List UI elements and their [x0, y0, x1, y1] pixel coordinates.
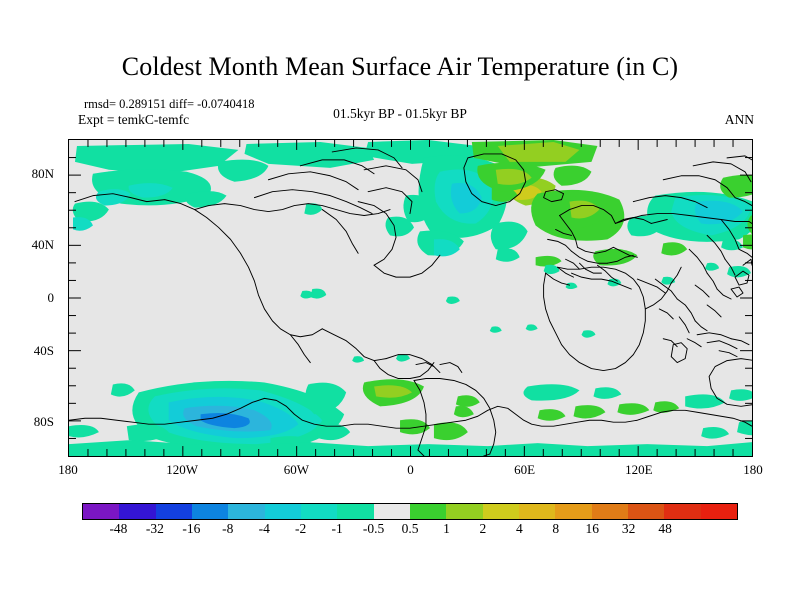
colorbar-tick-labels: -48-32-16-8-4-2-1-0.50.51248163248 — [82, 521, 738, 541]
colorbar-tick-1: 1 — [443, 521, 450, 537]
x-tick-60e: 60E — [514, 462, 535, 478]
y-tick-80s: 80S — [34, 414, 54, 430]
colorbar-swatch-10 — [446, 504, 482, 519]
x-tick-0: 0 — [407, 462, 414, 478]
page-title: Coldest Month Mean Surface Air Temperatu… — [0, 52, 800, 82]
y-axis-labels: 80N 40N 0 40S 80S — [0, 139, 62, 457]
colorbar-tick--8: -8 — [222, 521, 233, 537]
colorbar-tick--32: -32 — [146, 521, 164, 537]
colorbar-swatch-15 — [628, 504, 664, 519]
colorbar-swatch-17 — [701, 504, 737, 519]
x-tick-120w: 120W — [166, 462, 198, 478]
colorbar-swatch-2 — [156, 504, 192, 519]
colorbar-tick--1: -1 — [331, 521, 342, 537]
colorbar-swatch-3 — [192, 504, 228, 519]
map-plot-area — [68, 139, 753, 457]
x-tick-120e: 120E — [625, 462, 652, 478]
colorbar-tick-0.5: 0.5 — [402, 521, 419, 537]
y-tick-40n: 40N — [32, 237, 54, 253]
colorbar-swatch-5 — [265, 504, 301, 519]
map-svg — [69, 140, 752, 456]
colorbar-swatch-8 — [374, 504, 410, 519]
colorbar-swatch-12 — [519, 504, 555, 519]
colorbar-swatch-6 — [301, 504, 337, 519]
colorbar — [82, 503, 738, 520]
season-annotation: ANN — [725, 112, 754, 128]
colorbar-swatch-1 — [119, 504, 155, 519]
colorbar-tick-4: 4 — [516, 521, 523, 537]
colorbar-tick-2: 2 — [480, 521, 487, 537]
y-tick-40s: 40S — [34, 343, 54, 359]
x-tick-60w: 60W — [284, 462, 309, 478]
anomaly-contours — [69, 140, 752, 456]
colorbar-swatch-9 — [410, 504, 446, 519]
colorbar-tick--2: -2 — [295, 521, 306, 537]
colorbar-swatch-7 — [337, 504, 373, 519]
x-axis-labels: 180 120W 60W 0 60E 120E 180 — [0, 462, 800, 484]
colorbar-tick--0.5: -0.5 — [363, 521, 384, 537]
colorbar-tick--4: -4 — [259, 521, 270, 537]
colorbar-tick--16: -16 — [182, 521, 200, 537]
colorbar-tick-48: 48 — [658, 521, 672, 537]
y-tick-80n: 80N — [32, 166, 54, 182]
colorbar-swatch-13 — [555, 504, 591, 519]
x-tick-180e: 180 — [743, 462, 763, 478]
colorbar-swatch-4 — [228, 504, 264, 519]
colorbar-swatches — [82, 503, 738, 520]
colorbar-swatch-11 — [483, 504, 519, 519]
colorbar-swatch-0 — [83, 504, 119, 519]
colorbar-tick--48: -48 — [109, 521, 127, 537]
colorbar-swatch-16 — [664, 504, 700, 519]
x-tick-180w: 180 — [58, 462, 78, 478]
climate-map-figure: Coldest Month Mean Surface Air Temperatu… — [0, 0, 800, 600]
colorbar-tick-16: 16 — [585, 521, 599, 537]
period-annotation: 01.5kyr BP - 01.5kyr BP — [0, 106, 800, 122]
y-tick-0: 0 — [48, 290, 55, 306]
colorbar-tick-8: 8 — [552, 521, 559, 537]
colorbar-tick-32: 32 — [622, 521, 636, 537]
colorbar-swatch-14 — [592, 504, 628, 519]
